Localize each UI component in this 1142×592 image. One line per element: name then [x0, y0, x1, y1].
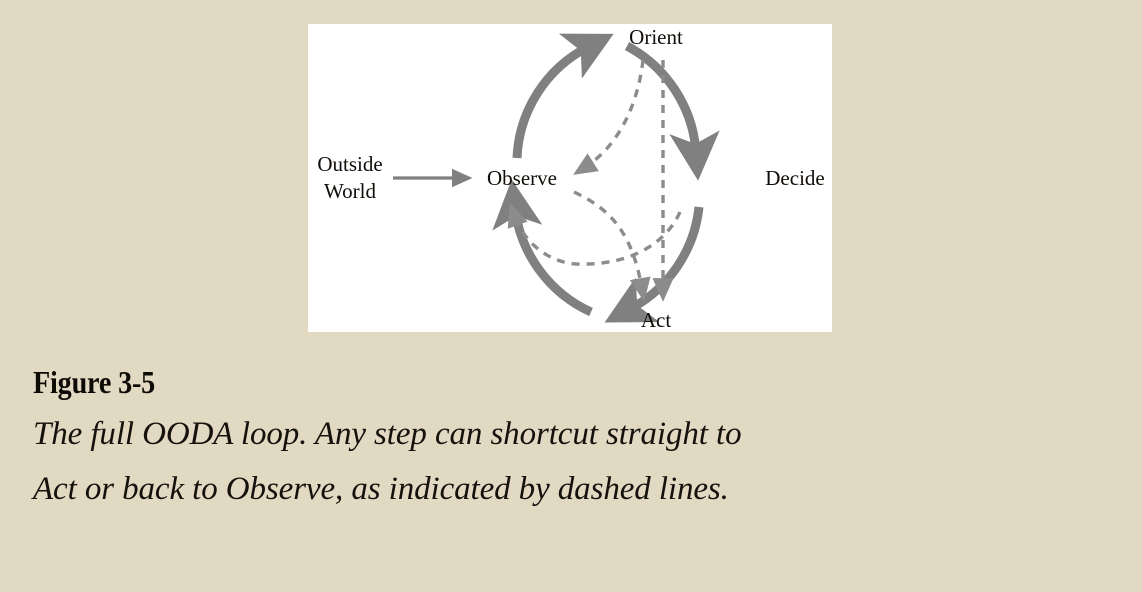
- edge-decide-to-observe-dashed: [514, 212, 680, 264]
- outside-world-label-line2: World: [324, 179, 376, 203]
- caption-line-2: Act or back to Observe, as indicated by …: [33, 473, 1093, 506]
- outside-world-label-line1: Outside: [317, 152, 382, 176]
- node-label-act: Act: [641, 308, 671, 332]
- edge-observe-to-act-dashed: [574, 192, 642, 289]
- edge-act-to-observe: [515, 208, 591, 312]
- edge-orient-to-observe-dashed: [584, 60, 643, 168]
- caption-line-1: The full OODA loop. Any step can shortcu…: [33, 418, 1093, 451]
- figure-caption-block: Figure 3-5 The full OODA loop. Any step …: [33, 366, 1093, 528]
- node-label-decide: Decide: [765, 166, 824, 190]
- figure-number: Figure 3-5: [33, 366, 966, 398]
- figure-panel: Outside World Observe Orient Decide Act: [308, 24, 832, 332]
- node-label-orient: Orient: [629, 25, 683, 49]
- ooda-loop-diagram: Outside World Observe Orient Decide Act: [308, 24, 832, 332]
- edge-observe-to-orient: [517, 47, 588, 158]
- node-label-observe: Observe: [487, 166, 557, 190]
